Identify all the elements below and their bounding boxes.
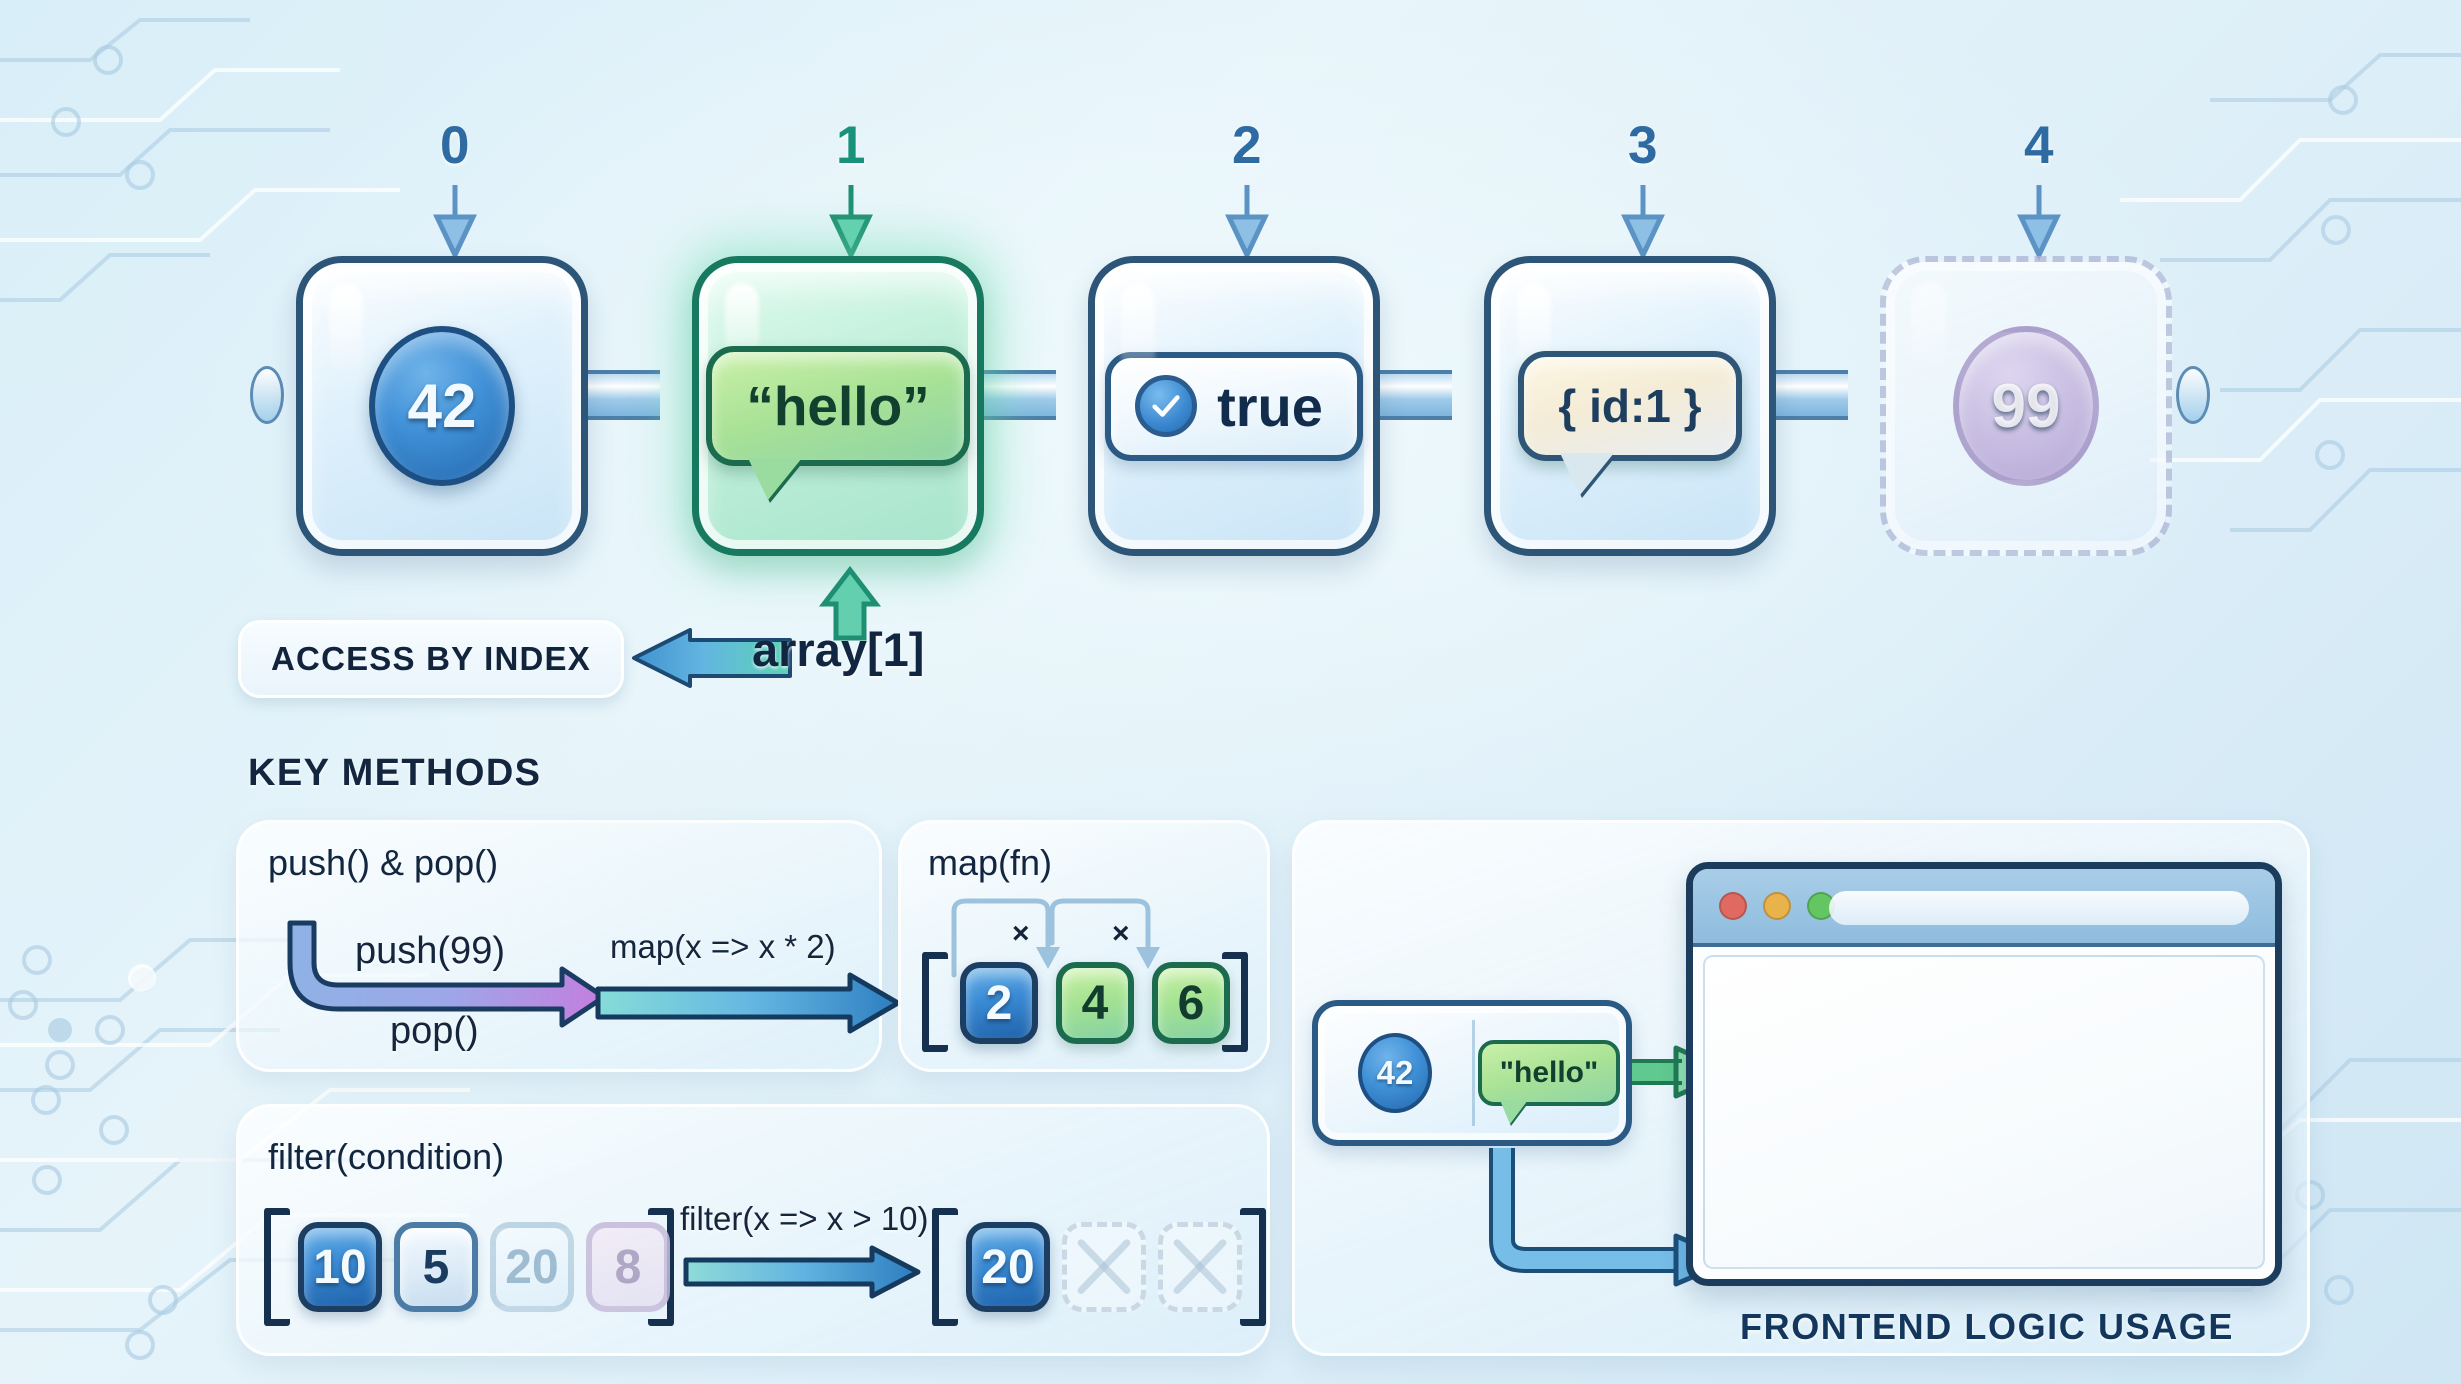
array-cell-0[interactable]: 42	[296, 256, 588, 556]
push-label: push(99)	[355, 930, 505, 973]
index-label-2: 2	[1212, 115, 1282, 176]
filter-arrow	[686, 1248, 946, 1308]
frontend-caption: FRONTEND LOGIC USAGE	[1740, 1306, 2234, 1348]
boolean-text: true	[1217, 374, 1323, 439]
traffic-light-minimize-icon[interactable]	[1763, 892, 1791, 920]
connector-pipe-1-2	[984, 370, 1056, 420]
filter-input-bracket-left	[264, 1208, 290, 1326]
map-result-chip-1: 4	[1056, 962, 1134, 1044]
index-label-1: 1	[816, 115, 886, 176]
value-string-hello: “hello”	[706, 346, 969, 466]
empty-slot-icon	[1067, 1227, 1141, 1306]
filter-input-chip-3: 8	[586, 1222, 670, 1312]
array-index-expression: array[1]	[752, 622, 924, 677]
array-cell-4-ghost[interactable]: 99	[1880, 256, 2172, 556]
browser-viewport	[1703, 955, 2265, 1269]
check-icon	[1135, 375, 1197, 437]
filter-output-bracket-right	[1240, 1208, 1266, 1326]
filter-output-chip-1	[1062, 1222, 1146, 1312]
index-label-0: 0	[420, 115, 490, 176]
array-cell-3[interactable]: { id:1 }	[1484, 256, 1776, 556]
connector-pipe-0-1	[588, 370, 660, 420]
connector-pipe-3-4	[1776, 370, 1848, 420]
pop-label: pop()	[390, 1010, 479, 1053]
filter-input-chip-1: 5	[394, 1222, 478, 1312]
map-result-chip-2: 6	[1152, 962, 1230, 1044]
filter-arrow-label: filter(x => x > 10)	[680, 1200, 929, 1238]
traffic-light-close-icon[interactable]	[1719, 892, 1747, 920]
index-label-4: 4	[2004, 115, 2074, 176]
filter-title: filter(condition)	[268, 1136, 504, 1178]
filter-output-bracket-left	[932, 1208, 958, 1326]
array-cell-2[interactable]: true	[1088, 256, 1380, 556]
filter-output-chip-2	[1158, 1222, 1242, 1312]
browser-url-bar[interactable]	[1829, 891, 2249, 925]
pipe-cap-right	[2176, 366, 2210, 424]
array-cell-1[interactable]: “hello”	[692, 256, 984, 556]
map-multiplier-1: ×	[1012, 917, 1030, 951]
map-bracket-left	[922, 952, 948, 1052]
browser-window-mock[interactable]	[1686, 862, 2282, 1286]
connector-pipe-2-3	[1380, 370, 1452, 420]
push-pop-title: push() & pop()	[268, 842, 498, 884]
filter-output-chip-0: 20	[966, 1222, 1050, 1312]
index-label-3: 3	[1608, 115, 1678, 176]
value-boolean-true: true	[1105, 352, 1363, 461]
empty-slot-icon	[1163, 1227, 1237, 1306]
index-arrows-group	[0, 185, 2461, 265]
map-arrow	[598, 975, 928, 1045]
map-result-chip-0: 2	[960, 962, 1038, 1044]
map-multiplier-2: ×	[1112, 917, 1130, 951]
value-object-id1: { id:1 }	[1518, 351, 1741, 461]
browser-title-bar	[1693, 869, 2275, 947]
map-arrow-label: map(x => x * 2)	[610, 928, 836, 966]
access-by-index-tag: ACCESS BY INDEX	[238, 620, 624, 698]
key-methods-heading: KEY METHODS	[248, 752, 541, 795]
filter-input-chip-0: 10	[298, 1222, 382, 1312]
pipe-cap-left	[250, 366, 284, 424]
filter-input-chip-2: 20	[490, 1222, 574, 1312]
map-title: map(fn)	[928, 842, 1052, 884]
value-number-42: 42	[369, 326, 515, 486]
value-number-99-ghost: 99	[1953, 326, 2099, 486]
